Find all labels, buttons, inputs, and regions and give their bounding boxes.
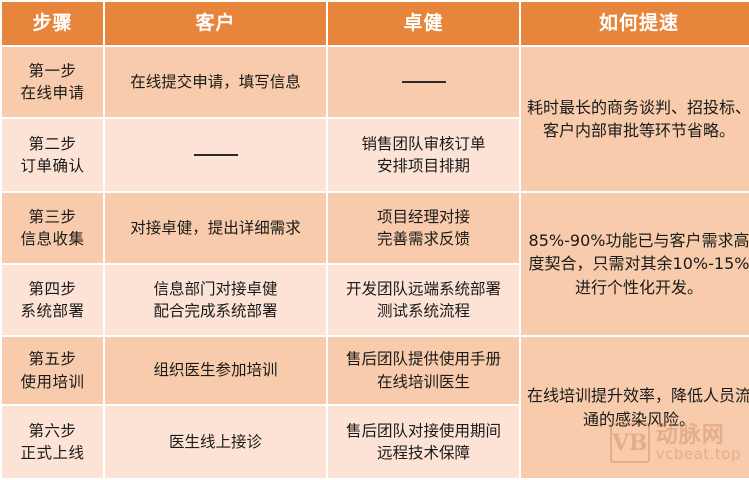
column-header-zhuojian: 卓健 — [328, 2, 519, 45]
customer-action: 信息部门对接卓健 配合完成系统部署 — [105, 265, 326, 335]
em-dash-placeholder — [194, 154, 238, 156]
customer-action: 在线提交申请，填写信息 — [105, 47, 326, 117]
column-header-customer: 客户 — [105, 2, 326, 45]
speed-note-1: 耗时最长的商务谈判、招投标、客户内部审批等环节省略。 — [521, 47, 749, 191]
table-row: 第一步 在线申请 在线提交申请，填写信息 耗时最长的商务谈判、招投标、客户内部审… — [2, 47, 749, 117]
table-container: 步骤 客户 卓健 如何提速 第一步 在线申请 在线提交申请，填写信息 耗时最长的… — [0, 0, 749, 467]
zhuojian-action: 项目经理对接 完善需求反馈 — [328, 193, 519, 263]
zhuojian-action — [328, 47, 519, 117]
customer-action: 对接卓健，提出详细需求 — [105, 193, 326, 263]
customer-action — [105, 119, 326, 191]
table-header-row: 步骤 客户 卓健 如何提速 — [2, 2, 749, 45]
customer-action: 医生线上接诊 — [105, 406, 326, 478]
customer-action: 组织医生参加培训 — [105, 337, 326, 404]
speed-note-2: 85%-90%功能已与客户需求高度契合，只需对其余10%-15%进行个性化开发。 — [521, 193, 749, 335]
em-dash-placeholder — [402, 81, 446, 83]
step-label: 第四步 系统部署 — [2, 265, 103, 335]
step-label: 第六步 正式上线 — [2, 406, 103, 478]
zhuojian-action: 销售团队审核订单 安排项目排期 — [328, 119, 519, 191]
zhuojian-action: 开发团队远端系统部署 测试系统流程 — [328, 265, 519, 335]
step-label: 第二步 订单确认 — [2, 119, 103, 191]
step-label: 第五步 使用培训 — [2, 337, 103, 404]
column-header-how-to-speed-up: 如何提速 — [521, 2, 749, 45]
step-label: 第一步 在线申请 — [2, 47, 103, 117]
zhuojian-action: 售后团队对接使用期间 远程技术保障 — [328, 406, 519, 478]
process-table: 步骤 客户 卓健 如何提速 第一步 在线申请 在线提交申请，填写信息 耗时最长的… — [0, 0, 749, 480]
column-header-step: 步骤 — [2, 2, 103, 45]
zhuojian-action: 售后团队提供使用手册 在线培训医生 — [328, 337, 519, 404]
table-row: 第三步 信息收集 对接卓健，提出详细需求 项目经理对接 完善需求反馈 85%-9… — [2, 193, 749, 263]
speed-note-3: 在线培训提升效率，降低人员流通的感染风险。 — [521, 337, 749, 478]
table-row: 第五步 使用培训 组织医生参加培训 售后团队提供使用手册 在线培训医生 在线培训… — [2, 337, 749, 404]
step-label: 第三步 信息收集 — [2, 193, 103, 263]
